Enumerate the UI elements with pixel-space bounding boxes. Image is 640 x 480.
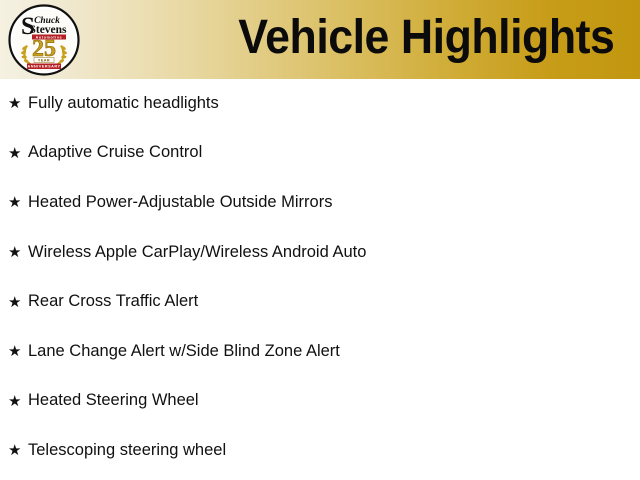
chuck-stevens-logo-icon: Chuck S Stevens Automotive (8, 4, 80, 76)
star-bullet-icon: ★ (8, 195, 28, 210)
dealer-logo: Chuck S Stevens Automotive (8, 4, 80, 76)
list-item: ★ Heated Steering Wheel (0, 377, 640, 427)
star-bullet-icon: ★ (8, 394, 28, 409)
vehicle-features-list: ★ Fully automatic headlights ★ Adaptive … (0, 79, 640, 476)
list-item-label: Fully automatic headlights (28, 94, 219, 114)
list-item: ★ Telescoping steering wheel (0, 426, 640, 476)
list-item: ★ Rear Cross Traffic Alert (0, 277, 640, 327)
star-bullet-icon: ★ (8, 146, 28, 161)
star-bullet-icon: ★ (8, 96, 28, 111)
list-item: ★ Adaptive Cruise Control (0, 129, 640, 179)
list-item-label: Telescoping steering wheel (28, 441, 226, 461)
star-bullet-icon: ★ (8, 295, 28, 310)
list-item: ★ Fully automatic headlights (0, 79, 640, 129)
star-bullet-icon: ★ (8, 245, 28, 260)
list-item-label: Rear Cross Traffic Alert (28, 292, 198, 312)
logo-badge-line2: ANNIVERSARY (28, 65, 61, 69)
logo-badge-line1: YEAR (38, 59, 50, 63)
logo-line2: Stevens (29, 24, 67, 36)
list-item-label: Heated Power-Adjustable Outside Mirrors (28, 193, 332, 213)
list-item-label: Heated Steering Wheel (28, 391, 199, 411)
list-item-label: Adaptive Cruise Control (28, 143, 202, 163)
list-item-label: Lane Change Alert w/Side Blind Zone Aler… (28, 342, 340, 362)
star-bullet-icon: ★ (8, 443, 28, 458)
list-item: ★ Wireless Apple CarPlay/Wireless Androi… (0, 228, 640, 278)
page-title: Vehicle Highlights (238, 4, 614, 72)
slide-header-band: Chuck S Stevens Automotive (0, 0, 640, 79)
vehicle-highlights-slide: Chuck S Stevens Automotive (0, 0, 640, 480)
list-item-label: Wireless Apple CarPlay/Wireless Android … (28, 243, 366, 263)
star-bullet-icon: ★ (8, 344, 28, 359)
list-item: ★ Heated Power-Adjustable Outside Mirror… (0, 178, 640, 228)
list-item: ★ Lane Change Alert w/Side Blind Zone Al… (0, 327, 640, 377)
